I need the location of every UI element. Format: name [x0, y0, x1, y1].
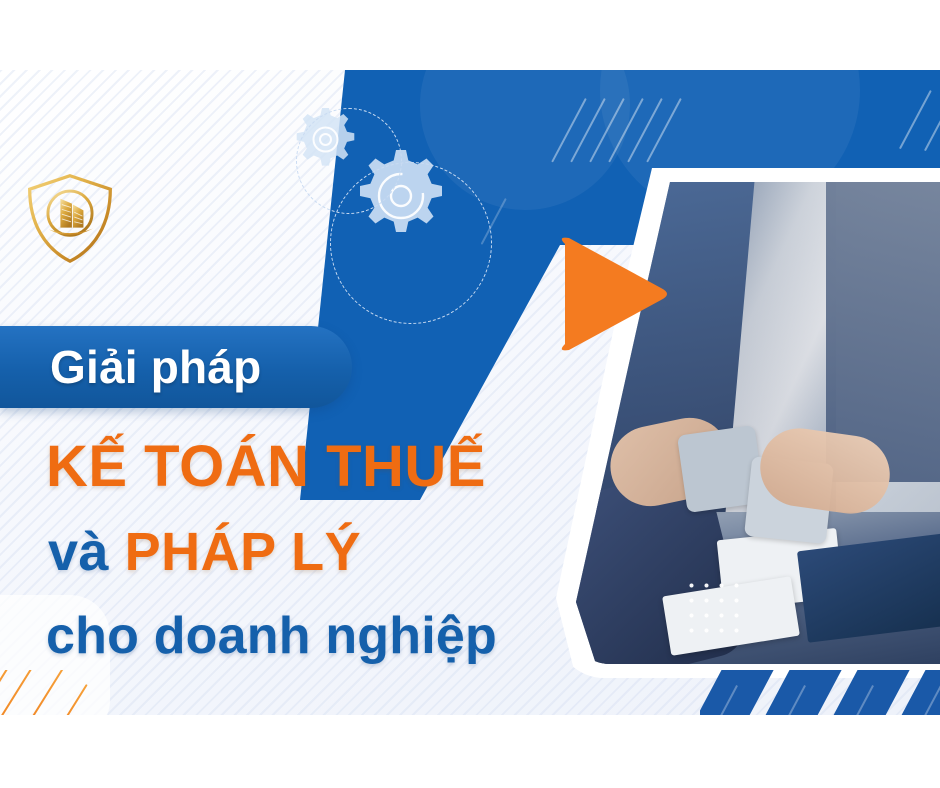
orange-line — [0, 670, 64, 715]
headline-line-2: và PHÁP LÝ — [48, 525, 361, 579]
banner-canvas: Giải pháp KẾ TOÁN THUẾ và PHÁP LÝ cho do… — [0, 70, 940, 715]
orange-line — [0, 670, 40, 715]
headline-line-1: KẾ TOÁN THUẾ — [46, 438, 486, 496]
shield-building-logo — [22, 170, 118, 266]
orange-diagonal-lines-group — [0, 670, 146, 715]
solution-badge-label: Giải pháp — [0, 344, 261, 390]
orange-line — [0, 670, 16, 715]
play-triangle-icon[interactable] — [551, 230, 671, 358]
headline-line-3: cho doanh nghiệp — [46, 610, 497, 662]
headline-line-2-highlight: PHÁP LÝ — [125, 522, 362, 582]
solution-badge: Giải pháp — [0, 326, 352, 408]
dot-grid-icon — [684, 578, 746, 640]
diagonal-bars-group — [700, 670, 940, 715]
diagonal-bar — [700, 670, 778, 715]
dashed-ring — [330, 162, 492, 324]
headline-line-2-prefix: và — [48, 522, 109, 582]
photo-chart-doc — [797, 533, 940, 643]
slab-line — [899, 90, 932, 149]
